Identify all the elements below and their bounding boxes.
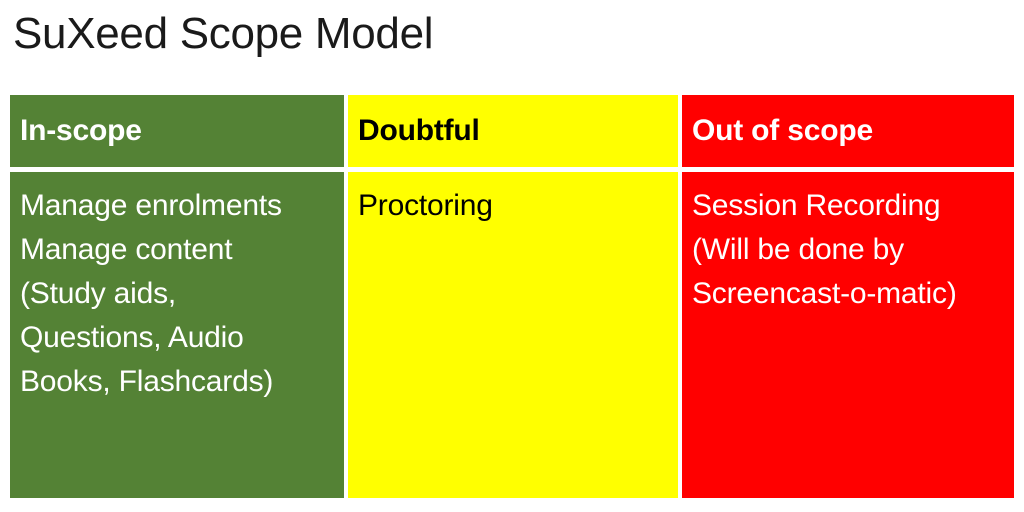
body-text-out-of-scope: Session Recording (Will be done by Scree… — [692, 184, 1006, 316]
scope-table: In-scope Doubtful Out of scope Manage en… — [10, 95, 1014, 498]
slide-canvas: SuXeed Scope Model In-scope Doubtful Out… — [0, 0, 1024, 512]
page-title: SuXeed Scope Model — [13, 7, 433, 61]
body-text-doubtful: Proctoring — [358, 184, 670, 228]
body-text-in-scope: Manage enrolments Manage content (Study … — [20, 184, 336, 404]
header-cell-doubtful[interactable]: Doubtful — [348, 95, 678, 167]
body-cell-in-scope[interactable]: Manage enrolments Manage content (Study … — [10, 172, 344, 498]
body-cell-out-of-scope[interactable]: Session Recording (Will be done by Scree… — [682, 172, 1014, 498]
table-header-row: In-scope Doubtful Out of scope — [10, 95, 1014, 167]
body-cell-doubtful[interactable]: Proctoring — [348, 172, 678, 498]
header-label-doubtful: Doubtful — [358, 114, 678, 148]
header-cell-in-scope[interactable]: In-scope — [10, 95, 344, 167]
table-body-row: Manage enrolments Manage content (Study … — [10, 172, 1014, 498]
header-cell-out-of-scope[interactable]: Out of scope — [682, 95, 1014, 167]
header-label-out-of-scope: Out of scope — [692, 114, 1014, 148]
header-label-in-scope: In-scope — [20, 114, 344, 148]
